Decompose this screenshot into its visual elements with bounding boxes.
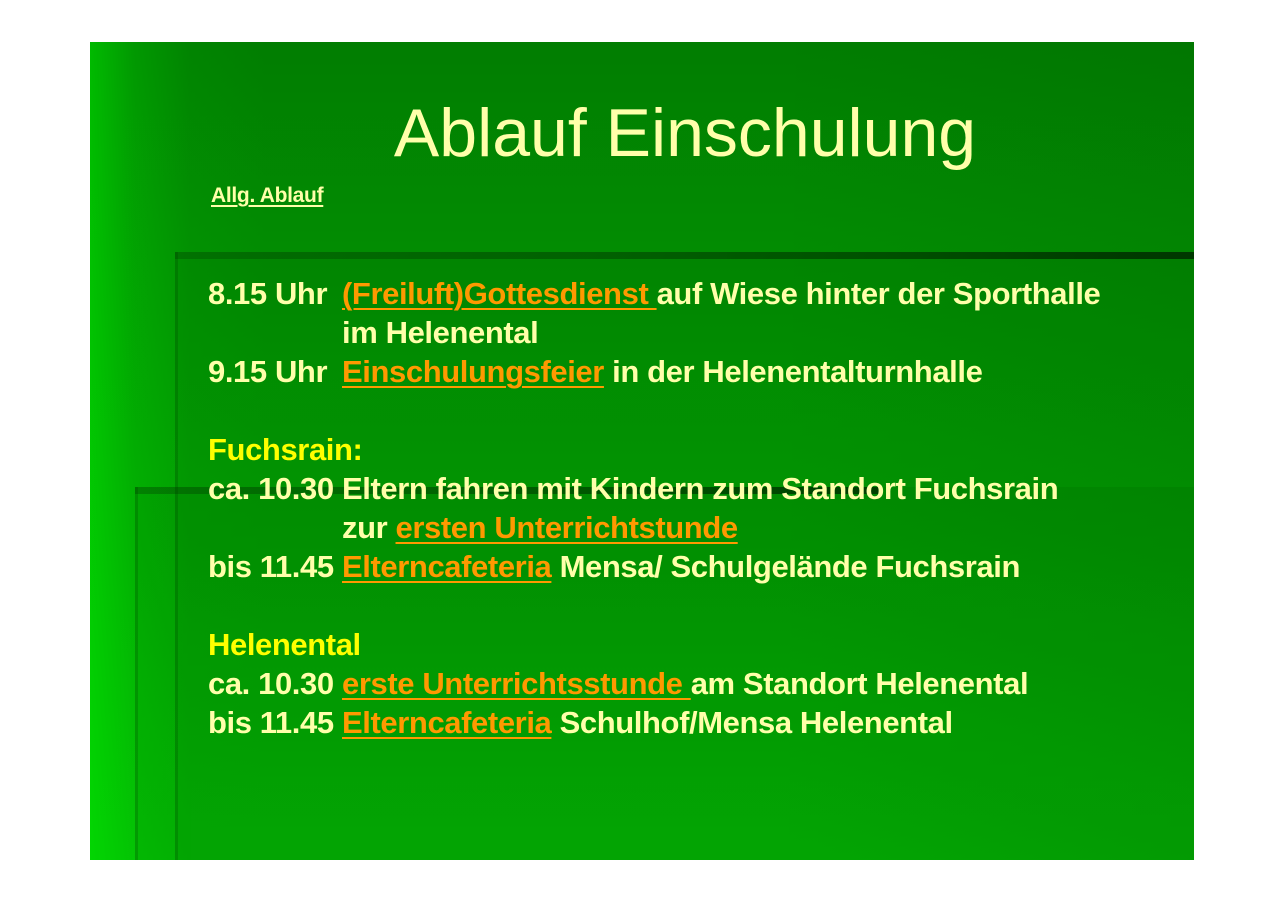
agenda-row: bis 11.45 Elterncafeteria Schulhof/Mensa…: [208, 703, 1194, 742]
agenda-continuation: im Helenental: [208, 313, 1194, 352]
agenda-list: 8.15 Uhr (Freiluft)Gottesdienst auf Wies…: [208, 274, 1194, 742]
agenda-time: ca. 10.30: [208, 664, 342, 703]
panel-secondary-left-edge: [135, 487, 138, 860]
agenda-time: 9.15 Uhr: [208, 352, 342, 391]
section-heading-helenental: Helenental: [208, 625, 1194, 664]
agenda-spacer: [208, 391, 1194, 430]
agenda-description: Eltern fahren mit Kindern zum Standort F…: [342, 469, 1194, 508]
agenda-continuation-prefix: zur: [342, 510, 396, 545]
agenda-time: 8.15 Uhr: [208, 274, 342, 313]
agenda-link[interactable]: Einschulungsfeier: [342, 354, 604, 389]
agenda-text: Schulhof/Mensa Helenental: [551, 705, 952, 740]
agenda-link[interactable]: Elterncafeteria: [342, 549, 551, 584]
slide-subtitle: Allg. Ablauf: [211, 184, 323, 208]
slide-title: Ablauf Einschulung: [90, 94, 1194, 172]
section-heading-fuchsrain: Fuchsrain:: [208, 430, 1194, 469]
agenda-link[interactable]: (Freiluft)Gottesdienst: [342, 276, 657, 311]
agenda-text: in der Helenentalturnhalle: [604, 354, 983, 389]
agenda-description: Elterncafeteria Schulhof/Mensa Helenenta…: [342, 703, 1194, 742]
agenda-time: ca. 10.30: [208, 469, 342, 508]
agenda-continuation: zur ersten Unterrichtstunde: [208, 508, 1194, 547]
agenda-description: Elterncafeteria Mensa/ Schulgelände Fuch…: [342, 547, 1194, 586]
agenda-row: 9.15 Uhr Einschulungsfeier in der Helene…: [208, 352, 1194, 391]
agenda-row: ca. 10.30 Eltern fahren mit Kindern zum …: [208, 469, 1194, 508]
agenda-text: am Standort Helenental: [691, 666, 1028, 701]
agenda-text: Mensa/ Schulgelände Fuchsrain: [551, 549, 1020, 584]
agenda-description: erste Unterrichtsstunde am Standort Hele…: [342, 664, 1194, 703]
agenda-row: bis 11.45 Elterncafeteria Mensa/ Schulge…: [208, 547, 1194, 586]
agenda-text: Eltern fahren mit Kindern zum Standort F…: [342, 471, 1058, 506]
panel-primary-top-shadow: [175, 252, 1194, 259]
agenda-row: 8.15 Uhr (Freiluft)Gottesdienst auf Wies…: [208, 274, 1194, 313]
agenda-description: Einschulungsfeier in der Helenentalturnh…: [342, 352, 1194, 391]
agenda-text: auf Wiese hinter der Sporthalle: [657, 276, 1101, 311]
agenda-link[interactable]: Elterncafeteria: [342, 705, 551, 740]
agenda-link[interactable]: erste Unterrichtsstunde: [342, 666, 691, 701]
agenda-time: bis 11.45: [208, 703, 342, 742]
agenda-time: bis 11.45: [208, 547, 342, 586]
agenda-spacer: [208, 586, 1194, 625]
presentation-slide: Ablauf Einschulung Allg. Ablauf 8.15 Uhr…: [90, 42, 1194, 860]
agenda-row: ca. 10.30 erste Unterrichtsstunde am Sta…: [208, 664, 1194, 703]
agenda-continuation-link[interactable]: ersten Unterrichtstunde: [396, 510, 738, 545]
agenda-description: (Freiluft)Gottesdienst auf Wiese hinter …: [342, 274, 1194, 313]
